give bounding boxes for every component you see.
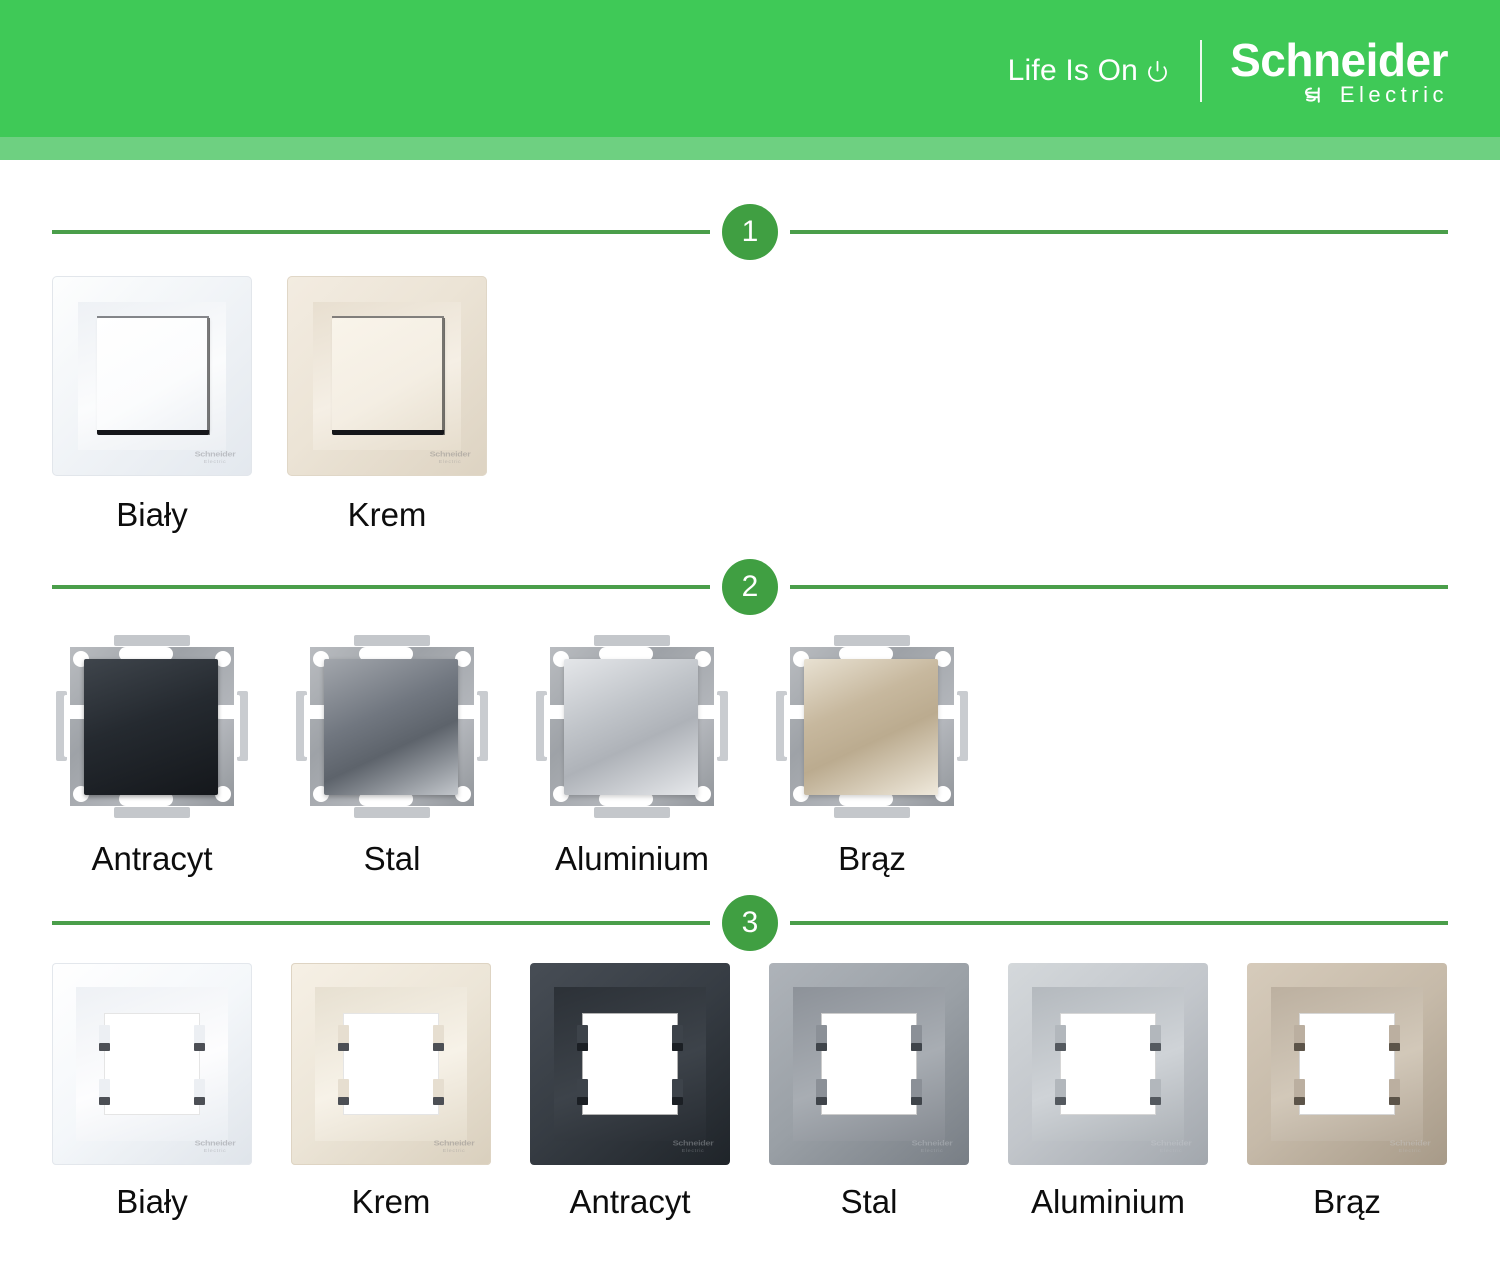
product-brandmark: Schneider Electric <box>427 1137 481 1157</box>
product-card-mechanism-braz[interactable]: Brąz <box>772 629 972 875</box>
product-card-mechanism-antracyt[interactable]: Antracyt <box>52 629 252 875</box>
frame-image-braz: Schneider Electric <box>1247 963 1447 1165</box>
power-icon <box>1145 59 1170 84</box>
product-label: Stal <box>841 1185 898 1218</box>
frame-image-stal: Schneider Electric <box>769 963 969 1165</box>
product-brandmark: Schneider Electric <box>905 1137 959 1157</box>
section-badge-2: 2 <box>722 559 778 615</box>
divider-rule-right <box>790 230 1448 234</box>
divider-rule-left <box>52 230 710 234</box>
life-is-on-text: Life Is On <box>1008 56 1138 86</box>
product-card-frame-aluminium[interactable]: Schneider Electric Aluminium <box>1008 963 1208 1218</box>
product-label: Biały <box>116 498 188 531</box>
product-row-mechanisms: Antracyt Stal <box>0 629 1500 875</box>
schneider-lifeison-mark-icon <box>1304 84 1334 106</box>
product-label: Biały <box>116 1185 188 1218</box>
frame-image-aluminium: Schneider Electric <box>1008 963 1208 1165</box>
section-badge-1: 1 <box>722 204 778 260</box>
product-card-switch-bialy[interactable]: Schneider Electric Biały <box>52 276 252 531</box>
mechanism-image-stal <box>292 629 492 824</box>
product-label: Krem <box>352 1185 431 1218</box>
product-brandmark: Schneider Electric <box>666 1137 720 1157</box>
mechanism-image-antracyt <box>52 629 252 824</box>
product-card-frame-krem[interactable]: Schneider Electric Krem <box>291 963 491 1218</box>
life-is-on-tagline: Life Is On <box>1008 56 1170 86</box>
section-divider-3: 3 <box>52 895 1448 951</box>
header-accent-strip <box>0 137 1500 160</box>
section-divider-1: 1 <box>52 204 1448 260</box>
product-card-frame-braz[interactable]: Schneider Electric Brąz <box>1247 963 1447 1218</box>
divider-rule-left <box>52 921 710 925</box>
product-card-mechanism-aluminium[interactable]: Aluminium <box>532 629 732 875</box>
divider-rule-right <box>790 921 1448 925</box>
schneider-electric-logo: Schneider Electric <box>1230 37 1448 106</box>
section-badge-3: 3 <box>722 895 778 951</box>
product-label: Brąz <box>1313 1185 1381 1218</box>
product-label: Antracyt <box>569 1185 690 1218</box>
product-brandmark: Schneider Electric <box>423 448 477 468</box>
product-label: Aluminium <box>1031 1185 1185 1218</box>
switch-image-bialy: Schneider Electric <box>52 276 252 476</box>
mechanism-image-braz <box>772 629 972 824</box>
product-label: Krem <box>348 498 427 531</box>
switch-image-krem: Schneider Electric <box>287 276 487 476</box>
product-label: Aluminium <box>555 842 709 875</box>
product-brandmark: Schneider Electric <box>1144 1137 1198 1157</box>
product-card-frame-stal[interactable]: Schneider Electric Stal <box>769 963 969 1218</box>
page-header: Life Is On Schneider Electric <box>0 0 1500 137</box>
product-card-mechanism-stal[interactable]: Stal <box>292 629 492 875</box>
electric-row: Electric <box>1230 84 1448 106</box>
product-brandmark: Schneider Electric <box>1383 1137 1437 1157</box>
schneider-wordmark: Schneider <box>1230 37 1448 83</box>
product-row-frames: Schneider Electric Biały Schneider Elect… <box>0 963 1500 1218</box>
product-card-frame-antracyt[interactable]: Schneider Electric Antracyt <box>530 963 730 1218</box>
electric-wordmark: Electric <box>1340 84 1448 106</box>
product-card-frame-bialy[interactable]: Schneider Electric Biały <box>52 963 252 1218</box>
frame-image-antracyt: Schneider Electric <box>530 963 730 1165</box>
divider-rule-left <box>52 585 710 589</box>
product-brandmark: Schneider Electric <box>188 1137 242 1157</box>
divider-rule-right <box>790 585 1448 589</box>
section-divider-2: 2 <box>52 559 1448 615</box>
brand-divider <box>1200 40 1202 102</box>
product-label: Antracyt <box>91 842 212 875</box>
product-label: Stal <box>364 842 421 875</box>
product-row-switches: Schneider Electric Biały Schneider Elect… <box>0 276 1500 531</box>
frame-image-krem: Schneider Electric <box>291 963 491 1165</box>
product-label: Brąz <box>838 842 906 875</box>
mechanism-image-aluminium <box>532 629 732 824</box>
brand-block: Life Is On Schneider Electric <box>1008 38 1448 104</box>
product-card-switch-krem[interactable]: Schneider Electric Krem <box>287 276 487 531</box>
frame-image-bialy: Schneider Electric <box>52 963 252 1165</box>
product-brandmark: Schneider Electric <box>188 448 242 468</box>
